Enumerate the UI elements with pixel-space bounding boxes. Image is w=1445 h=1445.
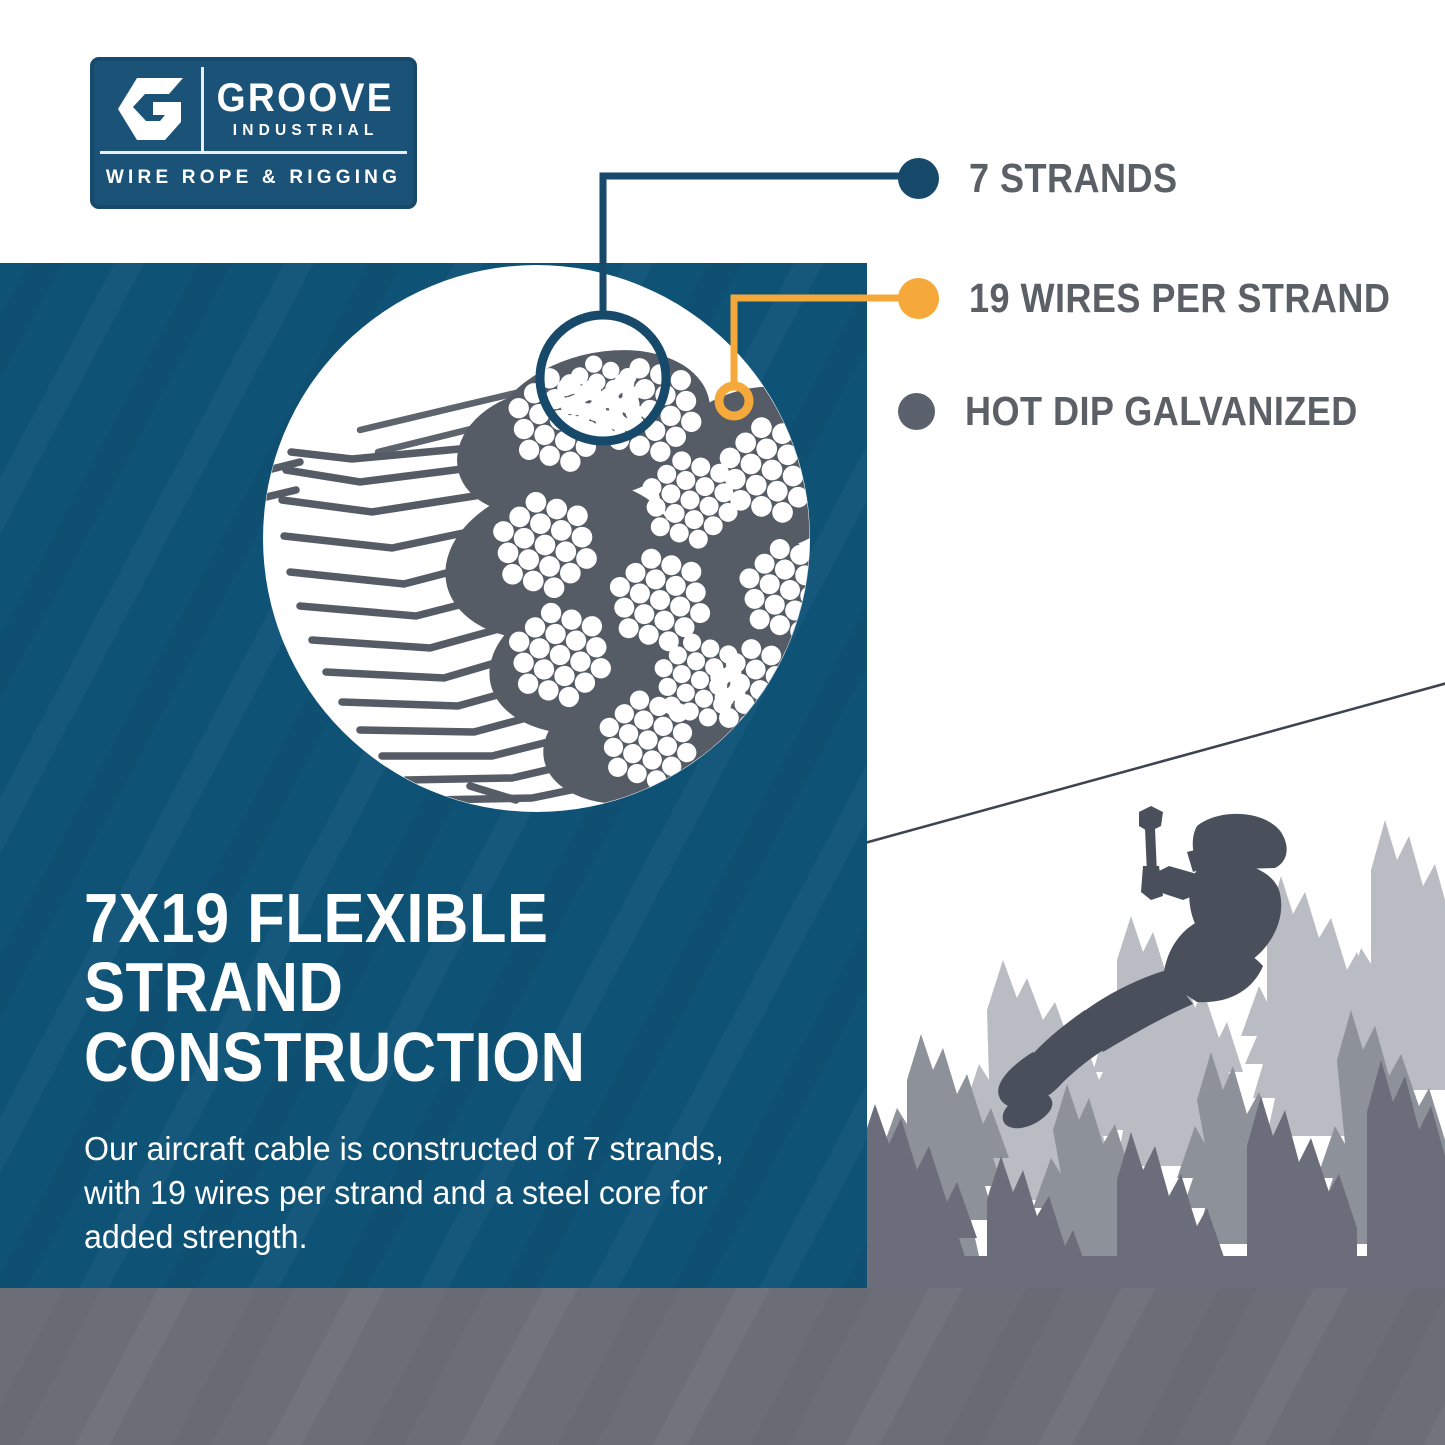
logo-tagline-text: WIRE ROPE & RIGGING xyxy=(106,167,401,189)
gray-bar-stripe-texture xyxy=(0,1288,1445,1445)
groove-g-mark-icon xyxy=(100,67,204,151)
bottom-gray-bar xyxy=(0,1288,1445,1445)
body-paragraph: Our aircraft cable is constructed of 7 s… xyxy=(84,1128,785,1261)
callout-label: 7 STRANDS xyxy=(969,155,1177,202)
callout-label: HOT DIP GALVANIZED xyxy=(965,388,1358,435)
brand-logo[interactable]: GROOVE INDUSTRIAL WIRE ROPE & RIGGING xyxy=(90,57,417,209)
infographic-canvas: GROOVE INDUSTRIAL WIRE ROPE & RIGGING 7 … xyxy=(0,0,1445,1445)
logo-brand-text: GROOVE xyxy=(217,79,394,117)
callout-galvanized[interactable]: HOT DIP GALVANIZED xyxy=(898,388,1411,435)
callout-label: 19 WIRES PER STRAND xyxy=(969,275,1390,322)
callout-dot-icon xyxy=(898,158,939,199)
headline-block: 7X19 FLEXIBLE STRAND CONSTRUCTION Our ai… xyxy=(84,884,844,1261)
callout-wires-per-strand[interactable]: 19 WIRES PER STRAND xyxy=(898,275,1445,322)
logo-subbrand-text: INDUSTRIAL xyxy=(233,122,379,140)
callout-strands[interactable]: 7 STRANDS xyxy=(898,155,1206,202)
callout-dot-icon xyxy=(898,278,939,319)
callout-dot-icon xyxy=(898,393,935,430)
zipline-forest-scene xyxy=(867,660,1445,1288)
logo-tagline: WIRE ROPE & RIGGING xyxy=(100,154,407,202)
page-title: 7X19 FLEXIBLE STRAND CONSTRUCTION xyxy=(84,884,753,1092)
